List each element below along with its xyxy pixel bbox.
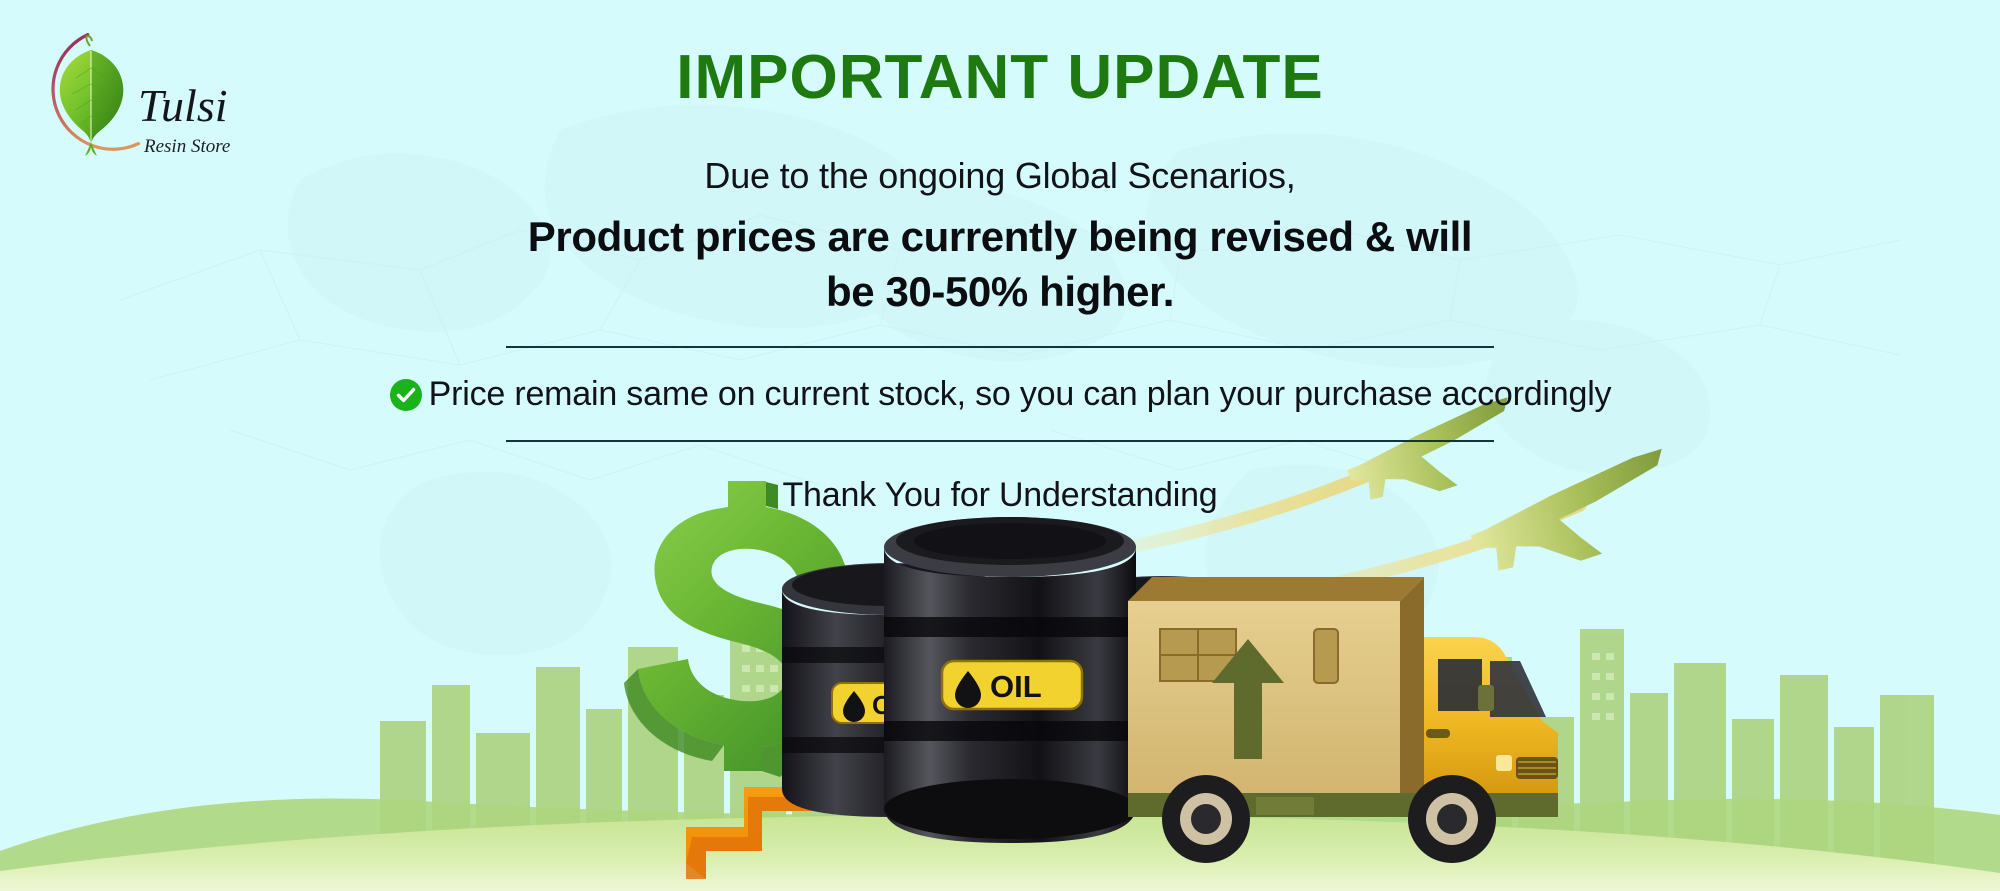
illustration-scene: OIL OIL [0, 471, 2000, 891]
divider-bottom [506, 440, 1494, 442]
oil-barrel-center: OIL [884, 517, 1136, 843]
lead-paragraph: Due to the ongoing Global Scenarios, [0, 152, 2000, 201]
truck-wheel-rear [1162, 775, 1250, 863]
delivery-truck [1128, 577, 1558, 863]
svg-text:OIL: OIL [872, 690, 915, 720]
leaf-icon [60, 36, 123, 156]
hill-left [0, 798, 2000, 891]
oil-label-left: OIL [832, 683, 950, 723]
emphasis-paragraph: Product prices are currently being revis… [0, 209, 2000, 320]
truck-cargo-graphics [1160, 629, 1338, 683]
thanks-text: Thank You for Understanding [0, 476, 2000, 515]
green-check-circle-icon [389, 378, 423, 412]
truck-cab [1424, 637, 1558, 793]
svg-text:OIL: OIL [1116, 697, 1158, 725]
page-title: IMPORTANT UPDATE [0, 45, 2000, 110]
oil-label-right: OIL [1080, 689, 1194, 727]
dollar-sign-3d [624, 481, 864, 777]
oil-barrel-right: OIL [1060, 576, 1264, 809]
oil-barrel-left: OIL [782, 563, 998, 817]
emphasis-line-2: be 30-50% higher. [0, 264, 2000, 319]
city-skyline [380, 621, 1934, 881]
assurance-text: Price remain same on current stock, so y… [429, 374, 1612, 415]
rising-stairs-arrow [686, 595, 966, 879]
emphasis-line-1: Product prices are currently being revis… [0, 209, 2000, 264]
brand-logo[interactable]: Tulsi Resin Store [16, 14, 256, 174]
logo-brand-name: Tulsi [138, 80, 228, 131]
important-update-banner: Tulsi Resin Store IMPORTANT UPDATE Due t… [0, 0, 2000, 891]
logo-tagline: Resin Store [143, 136, 230, 157]
truck-up-arrow [1212, 639, 1284, 759]
truck-cargo-box [1128, 601, 1400, 817]
message-content: IMPORTANT UPDATE Due to the ongoing Glob… [0, 0, 2000, 515]
ground [0, 815, 2000, 891]
oil-label-center: OIL [942, 661, 1082, 709]
truck-wheel-front [1408, 775, 1496, 863]
assurance-row: Price remain same on current stock, so y… [0, 374, 2000, 415]
divider-top [506, 346, 1494, 348]
svg-text:OIL: OIL [990, 669, 1042, 704]
